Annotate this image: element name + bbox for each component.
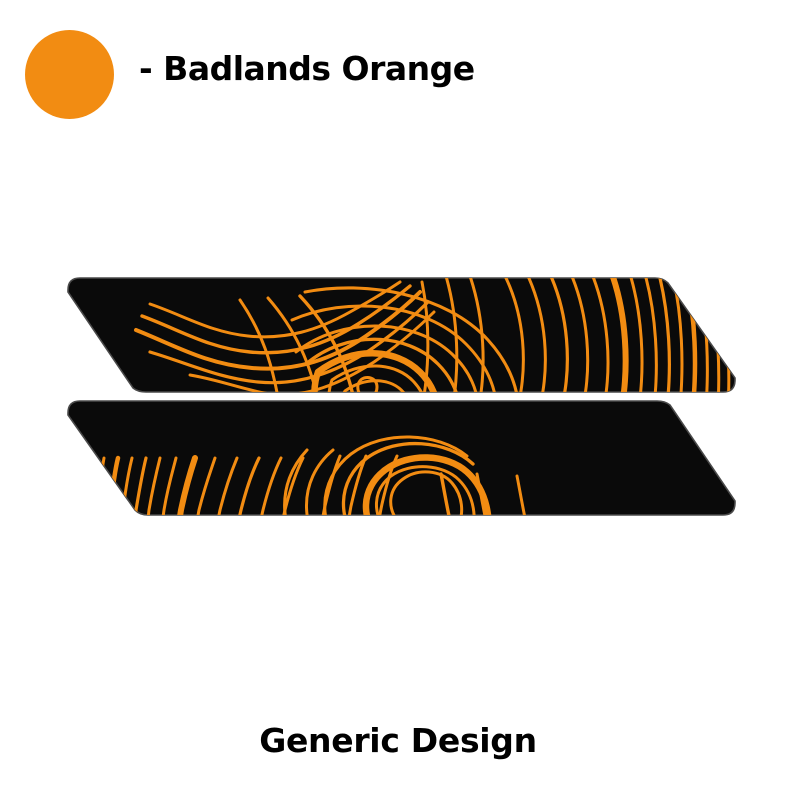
design-name-label: Generic Design <box>0 721 796 760</box>
color-swatch <box>25 30 114 119</box>
color-legend: - Badlands Orange <box>0 0 796 150</box>
decal-pair-svg <box>0 230 796 550</box>
product-graphic <box>0 230 796 550</box>
color-name-label: - Badlands Orange <box>139 47 475 91</box>
lower-panel <box>66 401 735 550</box>
